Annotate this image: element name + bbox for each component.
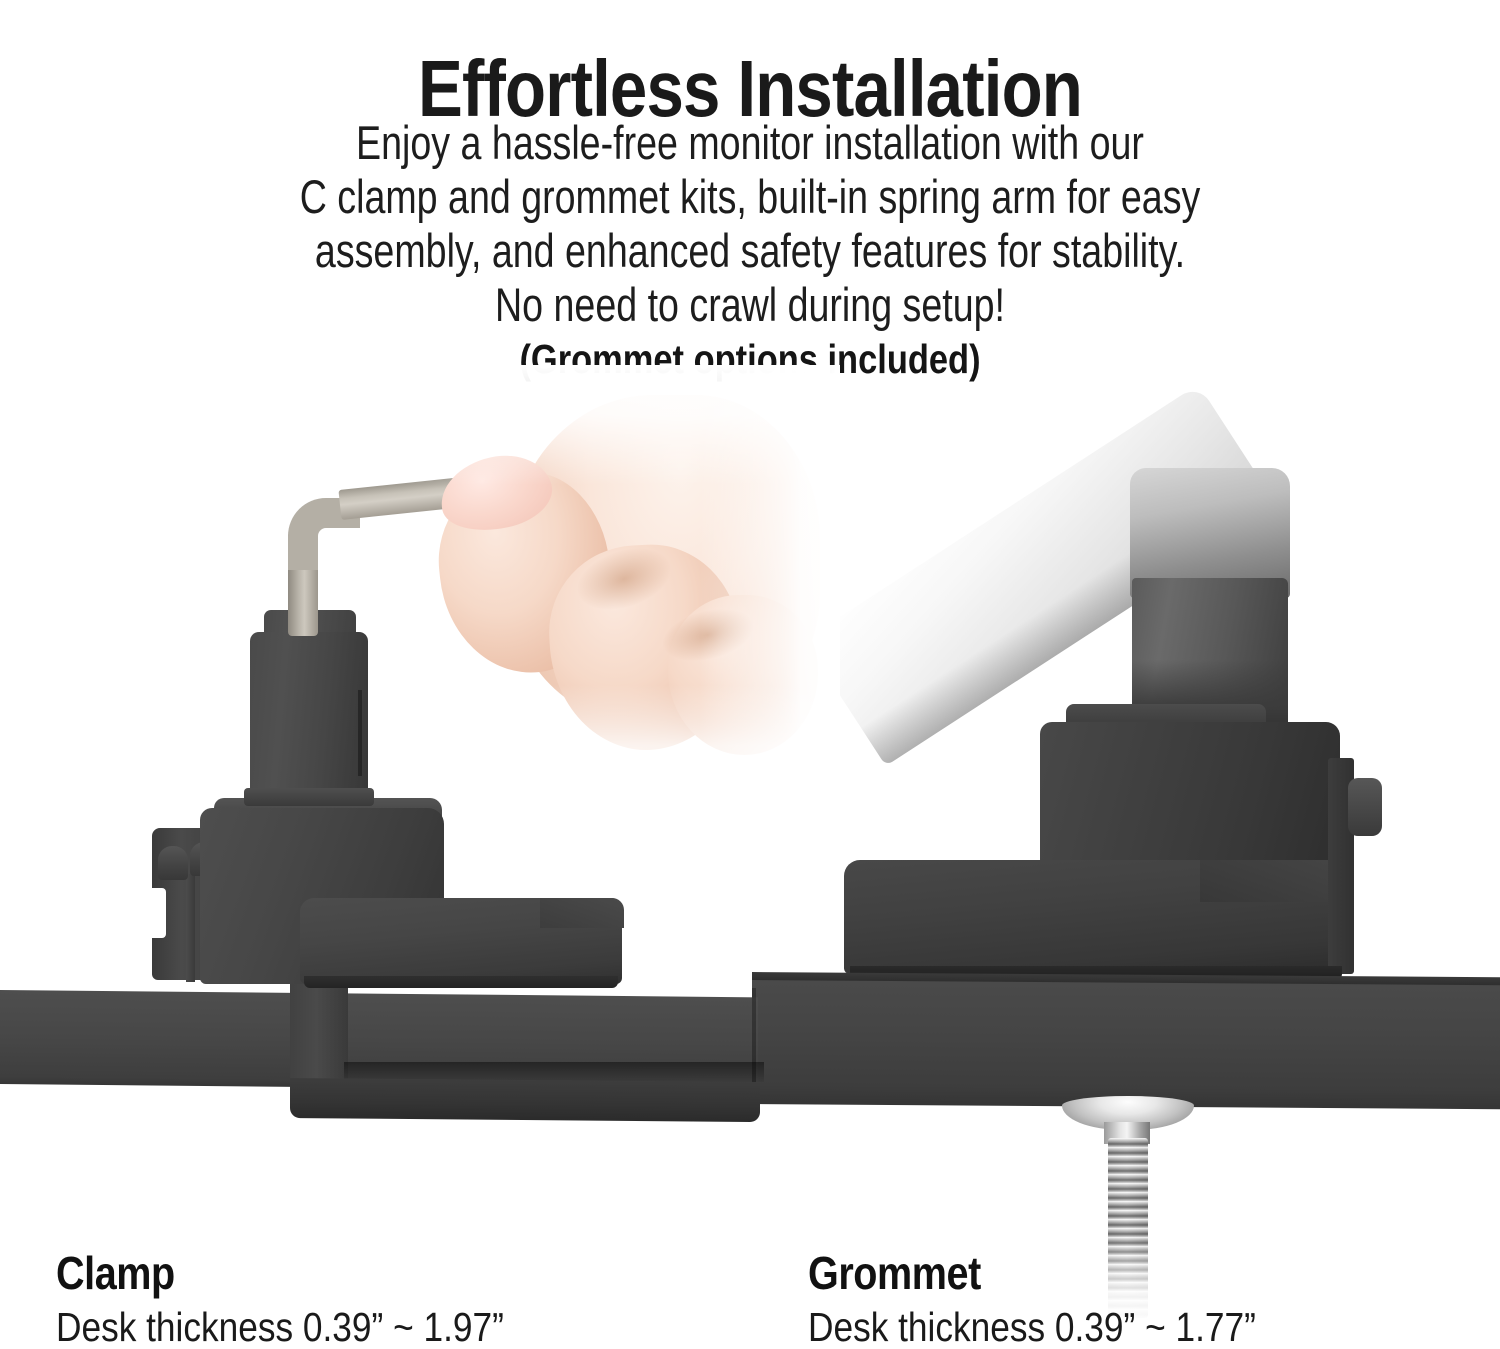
arm-notch [884, 469, 938, 520]
clamp-knob-ring [244, 788, 374, 806]
clamp-caption-group: Clamp Desk thickness 0.39” ~ 1.97” [56, 1248, 577, 1349]
clamp-post-notch [152, 888, 166, 938]
product-photo-scene [0, 0, 1500, 1260]
grommet-caption-title: Grommet [808, 1248, 1256, 1299]
clamp-adjustment-knob [250, 632, 368, 804]
clamp-plate-foot [304, 976, 618, 988]
clamp-clip-tab-a [158, 846, 188, 880]
hand-gripping-hex-key [400, 375, 820, 775]
desk-surface-right [752, 980, 1500, 1109]
product-feature-graphic: Effortless Installation Enjoy a hassle-f… [0, 0, 1500, 1349]
clamp-knob-seam [358, 690, 362, 776]
grommet-caption-group: Grommet Desk thickness 0.39” ~ 1.77” [808, 1248, 1329, 1349]
clamp-jaw-bottom [290, 1078, 760, 1122]
clamp-plate-bevel [540, 898, 624, 928]
grommet-caption-spec: Desk thickness 0.39” ~ 1.77” [808, 1305, 1256, 1349]
hand-fade-bottom [400, 685, 830, 795]
clamp-caption-title: Clamp [56, 1248, 504, 1299]
clamp-caption-spec: Desk thickness 0.39” ~ 1.97” [56, 1305, 504, 1349]
grommet-locking-pin [1348, 778, 1382, 836]
grommet-hub [1040, 722, 1340, 874]
clamp-rib-a [186, 874, 195, 982]
grommet-plate-step [1200, 860, 1344, 902]
